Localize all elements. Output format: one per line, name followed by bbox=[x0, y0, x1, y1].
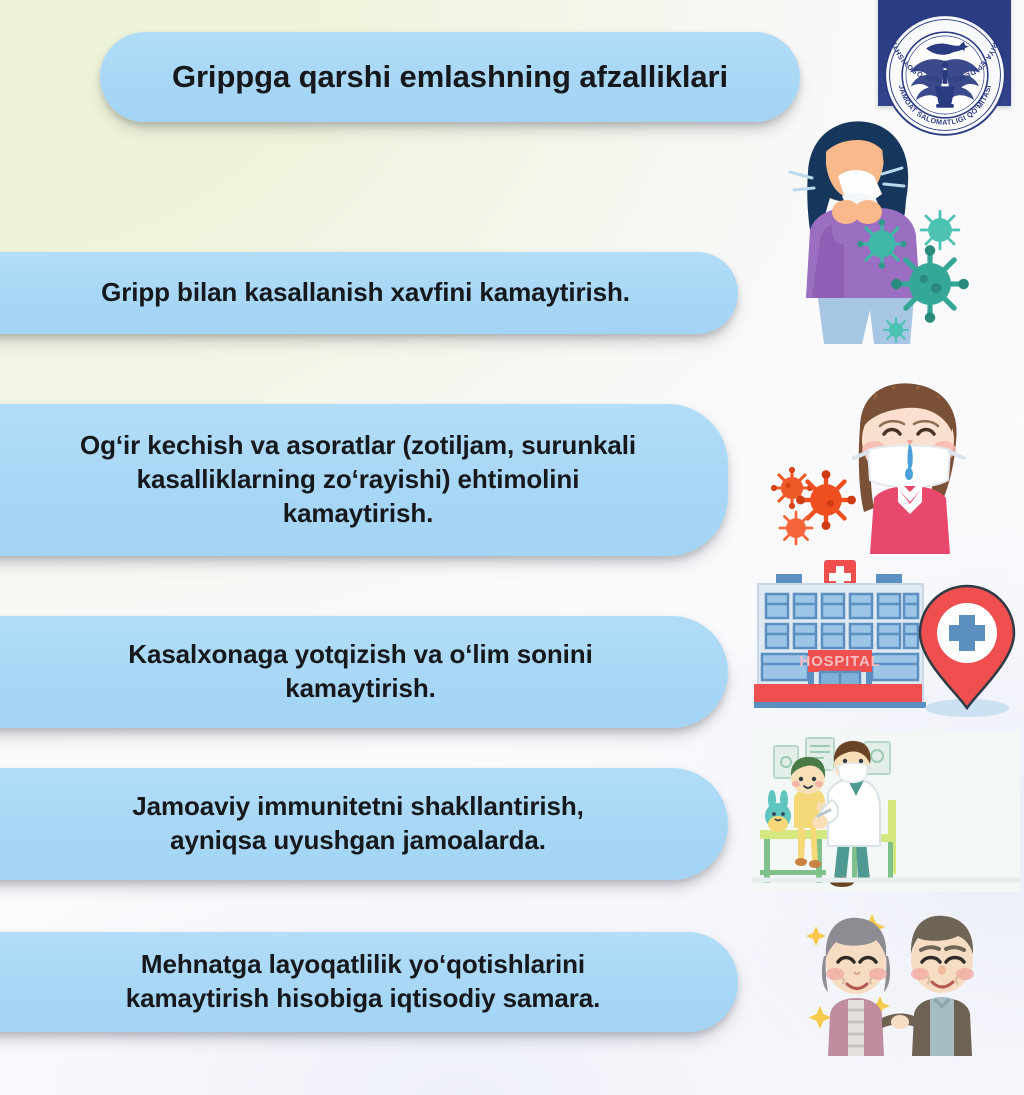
hospital-building-icon: HOSPITAL bbox=[752, 556, 1017, 726]
happy-elderly-couple-icon bbox=[790, 896, 1015, 1066]
benefit-pill-4: Jamoaviy immunitetni shakllantirish, ayn… bbox=[0, 768, 728, 880]
hospital-illustration: HOSPITAL bbox=[752, 556, 1017, 726]
benefit-text-2: Og‘ir kechish va asoratlar (zotiljam, su… bbox=[30, 429, 636, 530]
vaccination-illustration bbox=[752, 730, 1020, 892]
benefit-text-3: Kasalxonaga yotqizish va o‘lim sonini ka… bbox=[73, 638, 592, 706]
sneezing-woman-illustration bbox=[770, 112, 1000, 347]
doctor-vaccinating-child-icon bbox=[752, 730, 1020, 892]
benefit-pill-2: Og‘ir kechish va asoratlar (zotiljam, su… bbox=[0, 404, 728, 556]
poster-title-pill: Grippga qarshi emlashning afzalliklari bbox=[100, 32, 800, 122]
sick-girl-with-mask-icon bbox=[768, 378, 1018, 563]
infographic-poster: SANITARIYA-EPIDEMIOLOGIK OSOYISHTALIK VA… bbox=[0, 0, 1024, 1095]
hospital-sign-text: HOSPITAL bbox=[799, 653, 880, 670]
sneezing-woman-icon bbox=[770, 112, 1000, 347]
benefit-pill-5: Mehnatga layoqatlilik yo‘qotishlarini ka… bbox=[0, 932, 738, 1032]
benefit-text-5: Mehnatga layoqatlilik yo‘qotishlarini ka… bbox=[76, 948, 600, 1016]
benefit-pill-1: Gripp bilan kasallanish xavfini kamaytir… bbox=[0, 252, 738, 334]
benefit-text-4: Jamoaviy immunitetni shakllantirish, ayn… bbox=[82, 790, 584, 858]
elderly-couple-illustration bbox=[790, 896, 1015, 1066]
benefit-text-1: Gripp bilan kasallanish xavfini kamaytir… bbox=[46, 276, 630, 310]
sick-girl-illustration bbox=[768, 378, 1018, 563]
benefit-pill-3: Kasalxonaga yotqizish va o‘lim sonini ka… bbox=[0, 616, 728, 728]
page-title: Grippga qarshi emlashning afzalliklari bbox=[172, 57, 728, 97]
